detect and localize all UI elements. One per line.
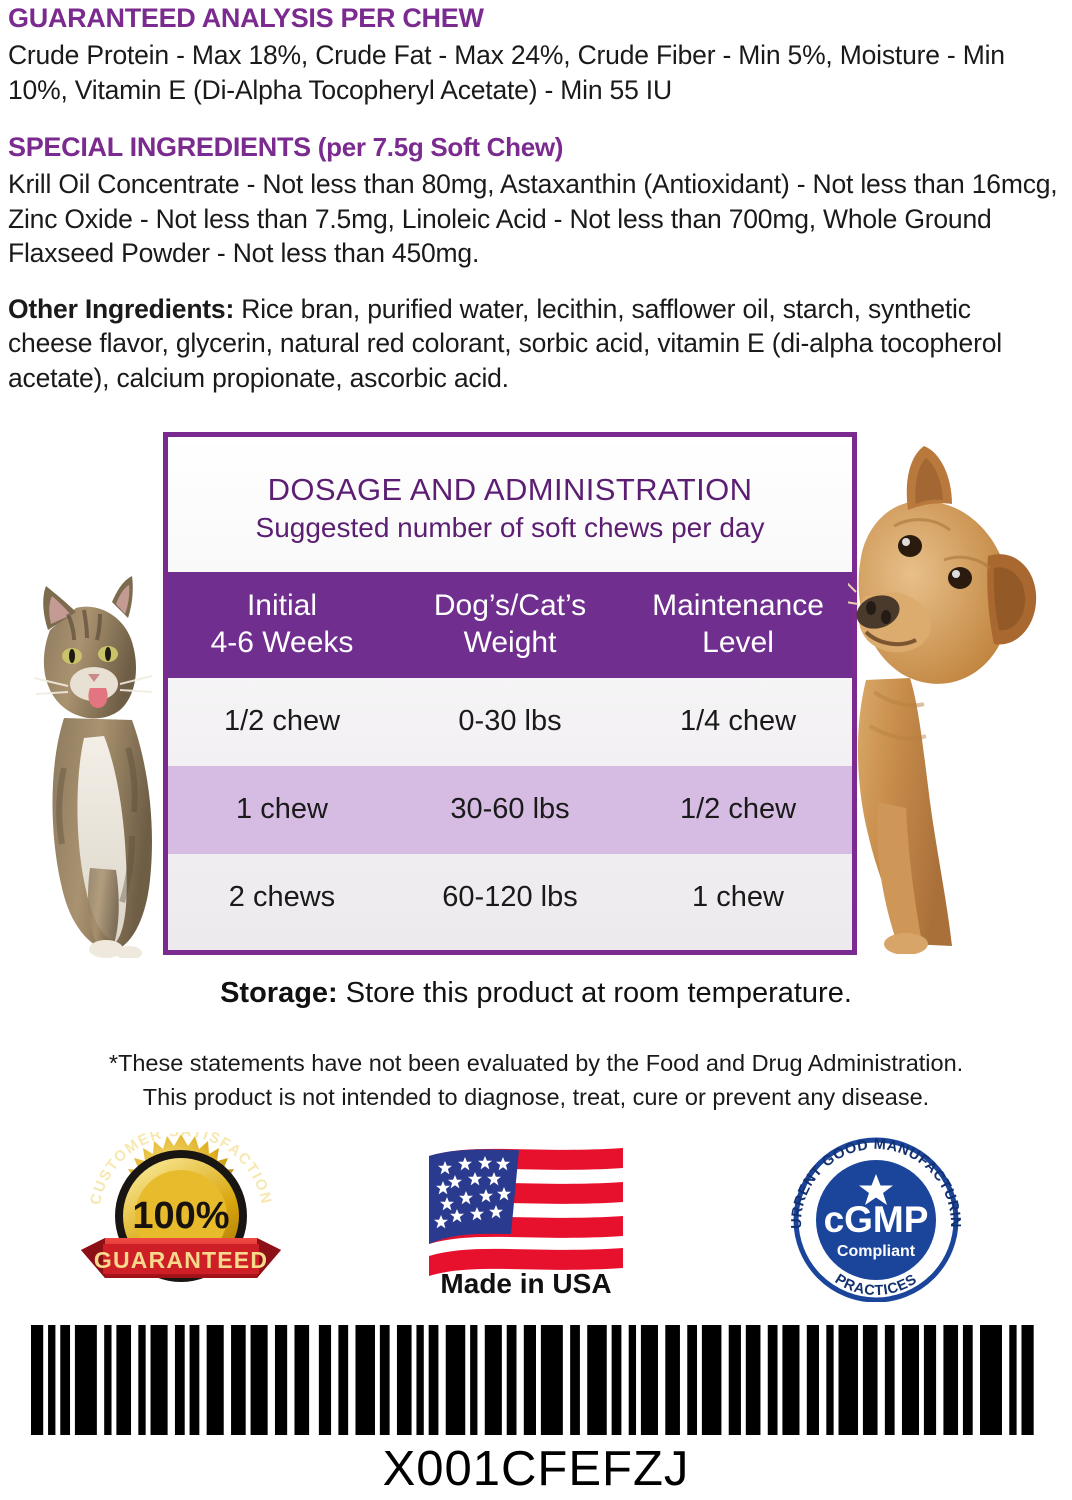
cell-initial: 2 chews [168, 881, 396, 914]
dosage-table-title-block: DOSAGE AND ADMINISTRATION Suggested numb… [168, 437, 852, 547]
table-row: 2 chews 60-120 lbs 1 chew [168, 854, 852, 942]
tan-dog-photo [848, 442, 1048, 954]
made-in-usa-caption: Made in USA [440, 1268, 611, 1298]
other-ingredients-text: Other Ingredients: Rice bran, purified w… [8, 292, 1056, 395]
disclaimer-line-1: *These statements have not been evaluate… [0, 1046, 1072, 1080]
cell-initial: 1 chew [168, 793, 396, 826]
cell-maintenance: 1 chew [624, 881, 852, 914]
other-ingredients-section: Other Ingredients: Rice bran, purified w… [8, 292, 1056, 395]
seal-center-text: 100% [132, 1195, 229, 1237]
storage-label: Storage: [220, 977, 338, 1009]
dosage-col-header-weight: Dog’s/Cat’s Weight [396, 588, 624, 661]
guaranteed-analysis-body: Crude Protein - Max 18%, Crude Fat - Max… [8, 38, 1064, 107]
special-ingredients-heading: SPECIAL INGREDIENTS (per 7.5g Soft Chew) [8, 133, 1064, 161]
disclaimer-line-2: This product is not intended to diagnose… [0, 1080, 1072, 1114]
cell-weight: 0-30 lbs [396, 705, 624, 738]
cgmp-center-text: cGMP [824, 1199, 929, 1240]
dosage-col-header-initial: Initial 4-6 Weeks [168, 588, 396, 661]
cell-maintenance: 1/2 chew [624, 793, 852, 826]
cell-initial: 1/2 chew [168, 705, 396, 738]
cell-weight: 30-60 lbs [396, 793, 624, 826]
product-label-page: GUARANTEED ANALYSIS PER CHEW Crude Prote… [0, 0, 1072, 1500]
special-ingredients-section: SPECIAL INGREDIENTS (per 7.5g Soft Chew)… [8, 133, 1064, 271]
fda-disclaimer: *These statements have not been evaluate… [0, 1046, 1072, 1114]
tabby-cat-photo [28, 568, 180, 958]
barcode-number: X001CFEFZJ [0, 1441, 1072, 1497]
table-row: 1/2 chew 0-30 lbs 1/4 chew [168, 678, 852, 766]
dosage-col-header-weight-line2: Weight [396, 625, 624, 662]
cell-weight: 60-120 lbs [396, 881, 624, 914]
cgmp-sub-text: Compliant [837, 1243, 916, 1260]
dosage-table-subtitle: Suggested number of soft chews per day [168, 510, 852, 546]
dosage-table: DOSAGE AND ADMINISTRATION Suggested numb… [163, 432, 857, 955]
dosage-col-header-weight-line1: Dog’s/Cat’s [396, 588, 624, 625]
cgmp-compliant-seal-icon: CURRENT GOOD MANUFACTURING PRACTICES cGM… [783, 1132, 969, 1302]
special-ingredients-body: Krill Oil Concentrate - Not less than 80… [8, 167, 1064, 270]
storage-line: Storage: Store this product at room temp… [0, 977, 1072, 1010]
table-row: 1 chew 30-60 lbs 1/2 chew [168, 766, 852, 854]
special-ingredients-heading-main: SPECIAL INGREDIENTS [8, 132, 311, 162]
barcode-bars [31, 1325, 1041, 1435]
barcode-block: X001CFEFZJ [0, 1325, 1072, 1497]
customer-satisfaction-seal-icon: CUSTOMER SATISFACTION 100% GUARANTEED [75, 1132, 287, 1300]
dosage-table-header-row: Initial 4-6 Weeks Dog’s/Cat’s Weight Mai… [168, 572, 852, 678]
dosage-col-header-initial-line1: Initial [168, 588, 396, 625]
other-ingredients-label: Other Ingredients: [8, 294, 234, 324]
dosage-col-header-maintenance: Maintenance Level [624, 588, 852, 661]
guaranteed-analysis-section: GUARANTEED ANALYSIS PER CHEW Crude Prote… [8, 4, 1064, 107]
cell-maintenance: 1/4 chew [624, 705, 852, 738]
dosage-table-title: DOSAGE AND ADMINISTRATION [168, 471, 852, 508]
special-ingredients-heading-sub: (per 7.5g Soft Chew) [311, 132, 563, 162]
dosage-col-header-maintenance-line1: Maintenance [624, 588, 852, 625]
certification-badges: CUSTOMER SATISFACTION 100% GUARANTEED [0, 1132, 1072, 1308]
dosage-col-header-maintenance-line2: Level [624, 625, 852, 662]
dosage-col-header-initial-line2: 4-6 Weeks [168, 625, 396, 662]
storage-text: Store this product at room temperature. [338, 977, 852, 1009]
made-in-usa-flag-icon: Made in USA [415, 1138, 637, 1298]
guaranteed-analysis-heading: GUARANTEED ANALYSIS PER CHEW [8, 4, 1064, 32]
seal-ribbon-text: GUARANTEED [94, 1247, 268, 1273]
